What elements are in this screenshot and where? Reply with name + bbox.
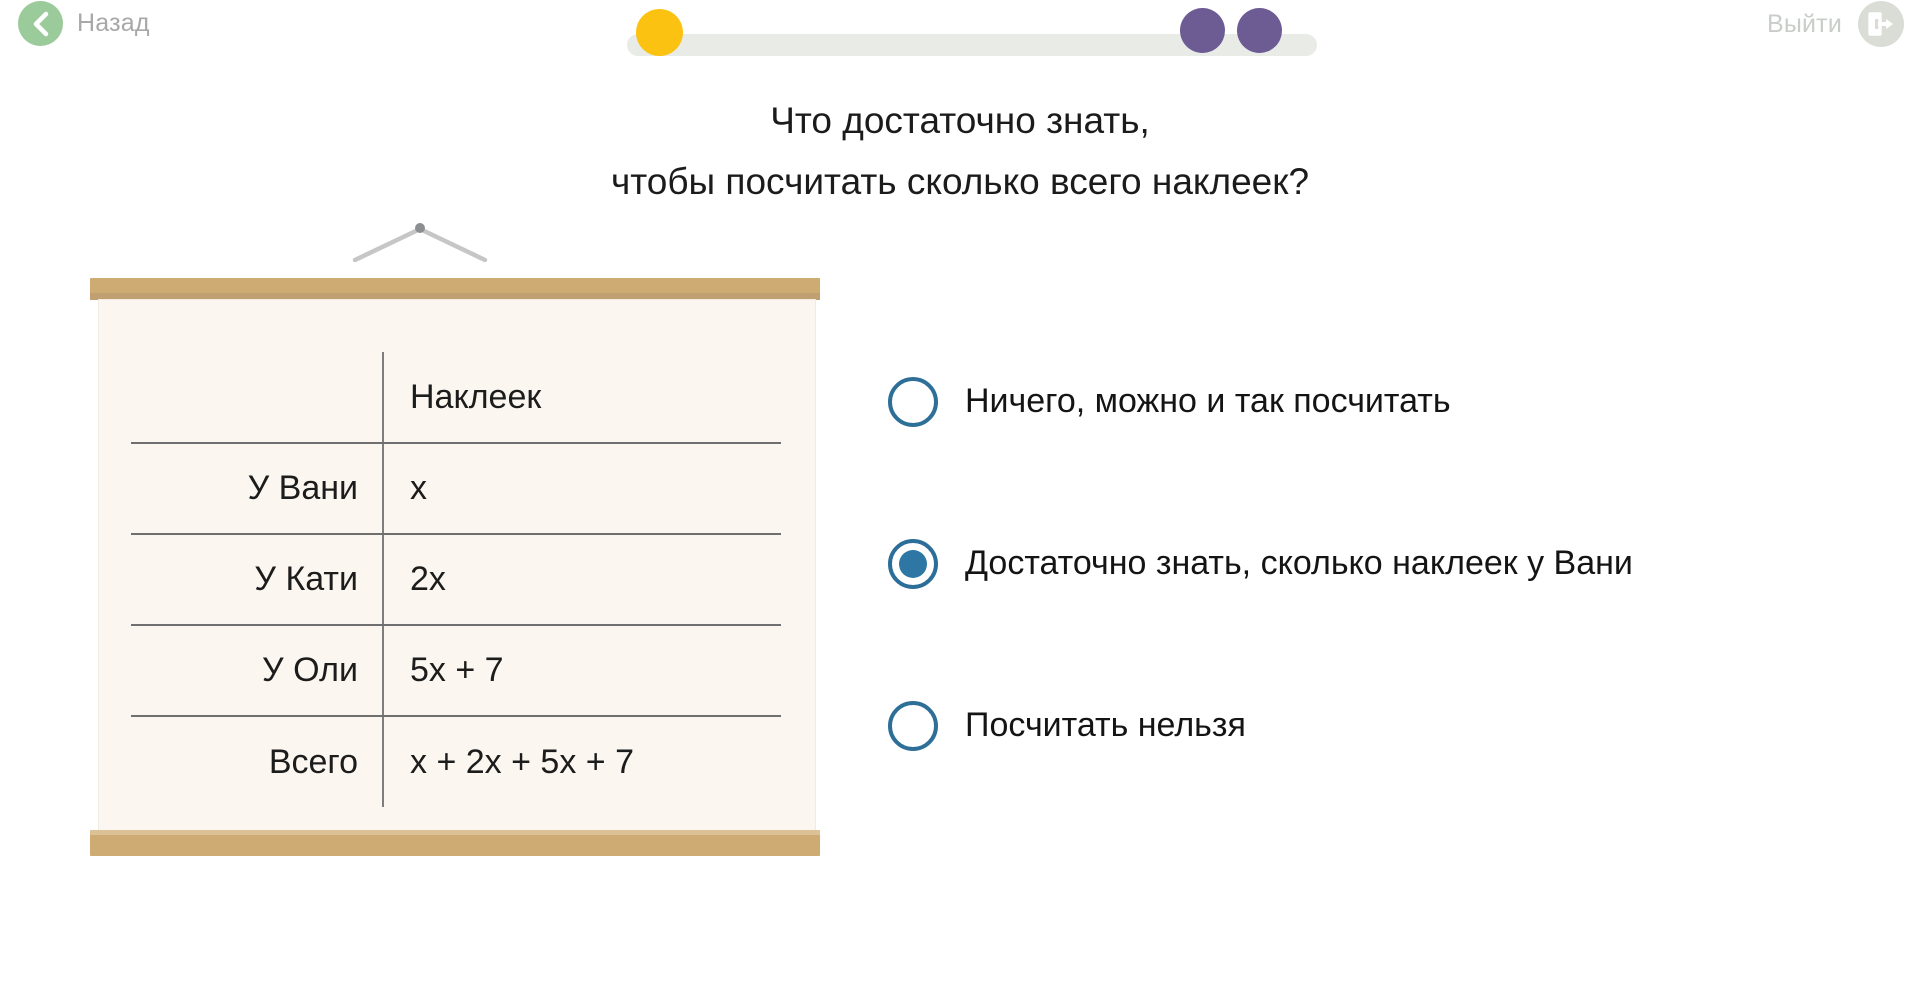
exit-button[interactable]: Выйти [1767, 1, 1904, 47]
table-row: У Оли 5х + 7 [131, 625, 781, 716]
radio-button-checked-icon[interactable] [888, 539, 938, 589]
radio-button-unchecked-icon[interactable] [888, 377, 938, 427]
answer-options-list: Ничего, можно и так посчитать Достаточно… [888, 373, 1848, 755]
table-row-label: У Оли [131, 625, 383, 716]
answer-option-3-label: Посчитать нельзя [965, 707, 1246, 744]
answer-option-1-label: Ничего, можно и так посчитать [965, 383, 1451, 420]
poster-bottom-rail [90, 830, 820, 856]
table-row: У Кати 2х [131, 534, 781, 625]
answer-option-1[interactable]: Ничего, можно и так посчитать [888, 373, 1848, 431]
top-bar: Назад Выйти [0, 0, 1920, 62]
question-line-2: чтобы посчитать сколько всего наклеек? [0, 151, 1920, 212]
stickers-table: Наклеек У Вани х У Кати 2х У Оли 5х + 7 [131, 352, 781, 807]
question-text: Что достаточно знать, чтобы посчитать ск… [0, 90, 1920, 212]
table-total-label: Всего [131, 716, 383, 807]
table-total-value: х + 2х + 5х + 7 [383, 716, 781, 807]
answer-option-3[interactable]: Посчитать нельзя [888, 697, 1848, 755]
table-row: У Вани х [131, 443, 781, 534]
table-total-row: Всего х + 2х + 5х + 7 [131, 716, 781, 807]
radio-button-unchecked-icon[interactable] [888, 701, 938, 751]
chevron-left-icon[interactable] [18, 1, 63, 46]
table-row-value: х [383, 443, 781, 534]
progress-dot-current[interactable] [636, 9, 683, 56]
table-row-value: 2х [383, 534, 781, 625]
back-button[interactable]: Назад [18, 1, 150, 46]
progress-dot-upcoming-1[interactable] [1180, 8, 1225, 53]
back-button-label: Назад [77, 9, 150, 38]
question-line-1: Что достаточно знать, [0, 90, 1920, 151]
table-row-value: 5х + 7 [383, 625, 781, 716]
poster-sheet: Наклеек У Вани х У Кати 2х У Оли 5х + 7 [99, 300, 815, 832]
table-header-stickers: Наклеек [383, 352, 781, 443]
table-row-label: У Вани [131, 443, 383, 534]
table-header-corner [131, 352, 383, 443]
poster-top-rail [90, 278, 820, 300]
lesson-screen: Назад Выйти Что достаточно знать, чтобы … [0, 0, 1920, 987]
lesson-progress-bar [627, 34, 1317, 56]
exit-door-arrow-icon[interactable] [1858, 1, 1904, 47]
table-row-label: У Кати [131, 534, 383, 625]
exit-button-label: Выйти [1767, 10, 1842, 39]
answer-option-2-label: Достаточно знать, сколько наклеек у Вани [965, 545, 1633, 582]
table-header-row: Наклеек [131, 352, 781, 443]
progress-dot-upcoming-2[interactable] [1237, 8, 1282, 53]
answer-option-2[interactable]: Достаточно знать, сколько наклеек у Вани [888, 535, 1848, 593]
poster-hanger-icon [350, 220, 490, 262]
